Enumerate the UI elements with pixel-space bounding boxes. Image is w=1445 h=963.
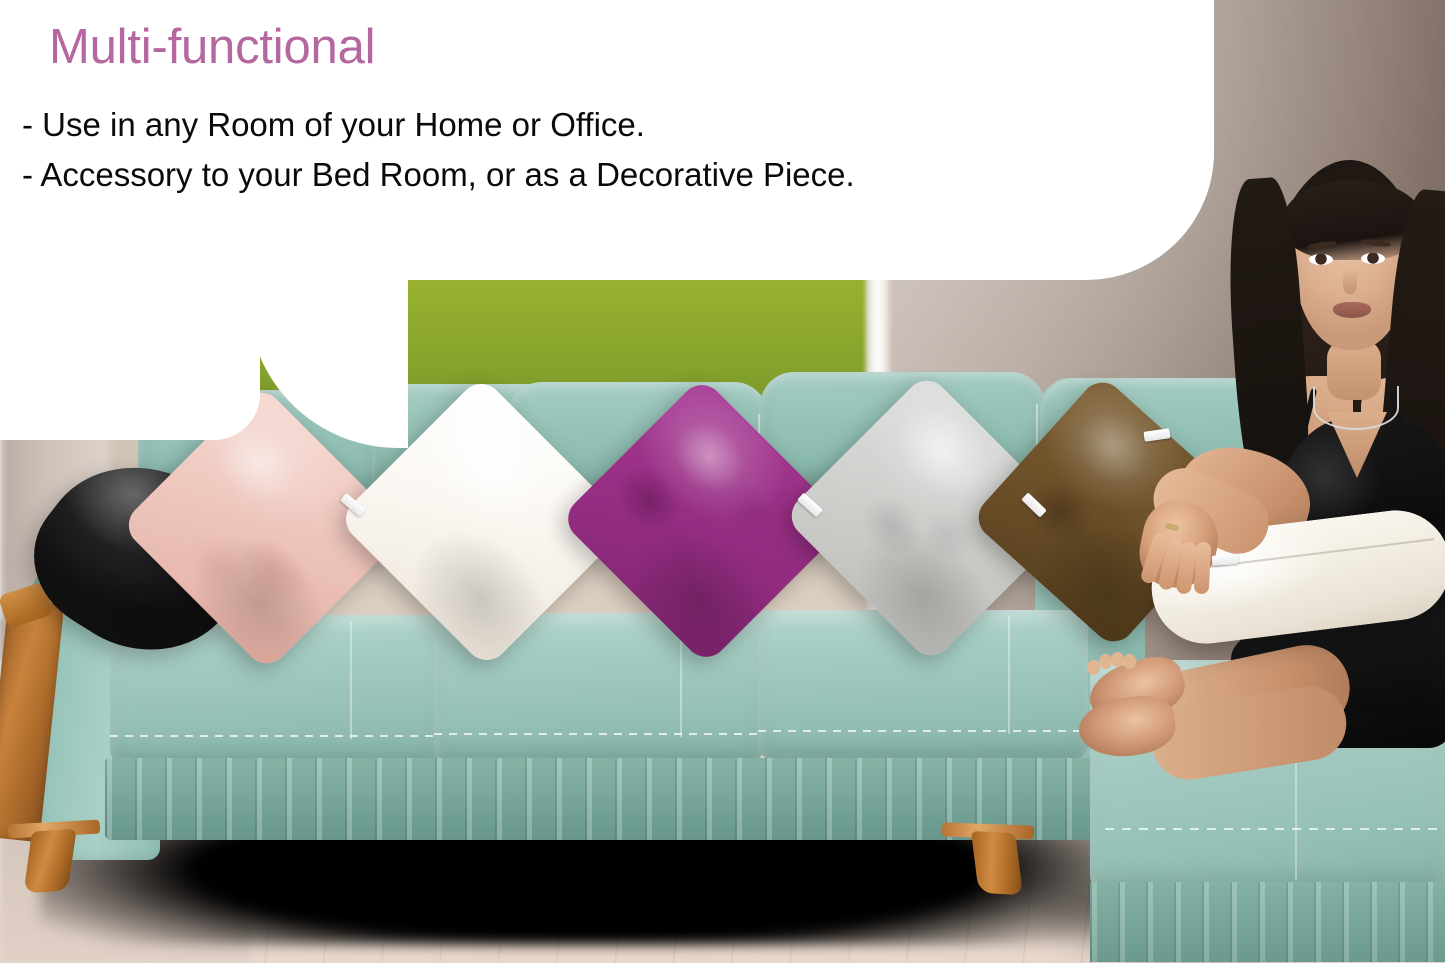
seat-stitching xyxy=(110,735,440,737)
panel-left-extension xyxy=(0,260,260,440)
model-toe xyxy=(1111,652,1124,667)
model-finger xyxy=(1194,542,1212,595)
feature-bullet-list: - Use in any Room of your Home or Office… xyxy=(22,100,855,200)
silver-chain-necklace xyxy=(1313,386,1399,430)
model-eye xyxy=(1309,254,1333,265)
headline: Multi-functional xyxy=(49,19,375,75)
sofa-wooden-leg xyxy=(971,831,1023,895)
seat-seam xyxy=(1008,616,1010,734)
model-nose xyxy=(1343,268,1357,294)
seat-stitching xyxy=(434,733,764,735)
model-toe xyxy=(1123,654,1136,669)
model-lips xyxy=(1333,302,1371,318)
model-toe xyxy=(1099,654,1112,669)
care-label-tag xyxy=(1212,554,1239,566)
feature-bullet: - Accessory to your Bed Room, or as a De… xyxy=(22,150,855,200)
chaise-pleated-skirt xyxy=(1090,882,1445,962)
product-feature-banner: Multi-functional - Use in any Room of yo… xyxy=(0,0,1445,963)
seat-seam xyxy=(350,621,352,739)
seat-stitching xyxy=(758,730,1088,732)
feature-bullet: - Use in any Room of your Home or Office… xyxy=(22,100,855,150)
model-eye xyxy=(1361,253,1385,264)
